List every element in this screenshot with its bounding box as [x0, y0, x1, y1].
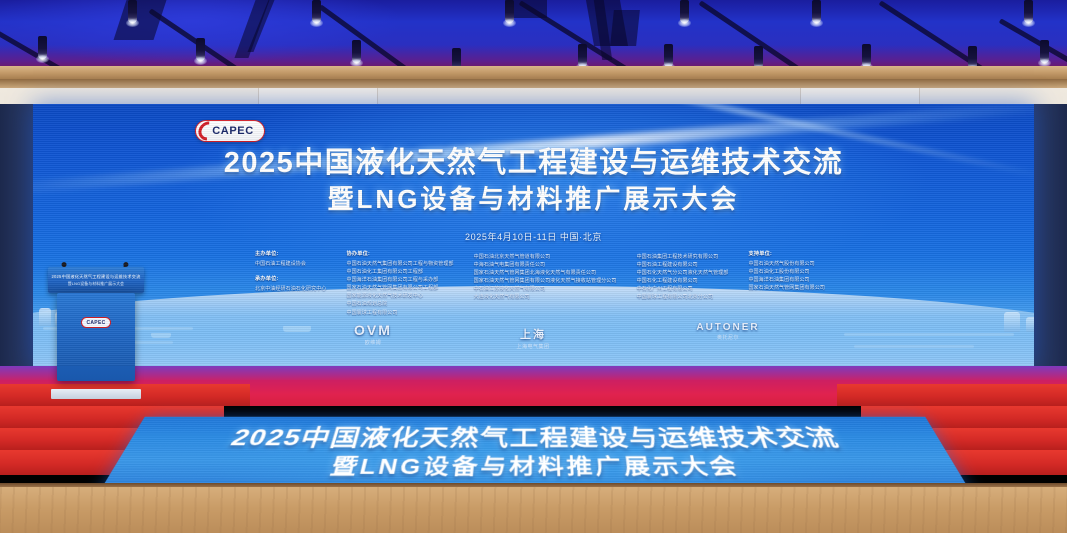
podium-capec-logo: CAPEC — [81, 317, 111, 328]
ceiling-spotlight — [505, 0, 514, 23]
ceiling-spotlight — [312, 0, 321, 23]
ceiling-beam-shadow — [0, 79, 1067, 88]
sponsor-heading: 支持单位: — [748, 250, 825, 257]
sponsor-item: 中国石油规划总院 — [346, 300, 453, 308]
shanghai-logo-text: 上海 — [473, 326, 593, 342]
ceiling — [0, 0, 1067, 72]
sponsor-item: 中国寰球工程有限公司 — [346, 309, 453, 317]
podium-banner-line-2: 暨LNG设备与材料推广展示大会 — [68, 282, 124, 287]
sponsor-item: 中国石油北京天然气管道有限公司 — [474, 253, 617, 261]
sponsor-item: 中国石油化工集团有限公司工程部 — [346, 268, 453, 276]
ceiling-spotlight — [578, 44, 587, 67]
sponsor-item: 中国海洋石油集团有限公司工程与采办部 — [346, 276, 453, 284]
sponsor-item: 中国石化工程建设有限公司 — [637, 277, 729, 285]
ceiling-spotlight — [128, 0, 137, 23]
sponsor-item: 中国寰球工程有限公司北京分公司 — [637, 293, 729, 301]
autoner-logo-sub: 奥托尼尔 — [673, 334, 783, 341]
sponsor-item: 中国石油化工股份有限公司 — [748, 268, 825, 276]
autoner-logo-text: AUTONER — [673, 322, 783, 333]
sponsor-item: 北京中油经研石油石化研究中心 — [255, 285, 326, 293]
sponsor-item: 大连液化天然气有限公司 — [474, 293, 617, 301]
ovm-logo-text: OVM — [333, 322, 413, 338]
sponsor-column: 支持单位: 中国石油天然气股份有限公司 中国石油化工股份有限公司 中国海洋石油集… — [748, 250, 825, 317]
main-led-screen: CAPEC 2025中国液化天然气工程建设与运维技术交流 暨LNG设备与材料推广… — [33, 104, 1034, 366]
sponsor-item: 中国石油天然气股份有限公司 — [748, 260, 825, 268]
sponsor-column: 中国石油集团工程技术研究有限公司 中国石油工程建设有限公司 中国石化天然气分公司… — [637, 250, 729, 317]
sponsor-column: 中国石油北京天然气管道有限公司 中海石油气电集团有限责任公司 国家石油天然气管网… — [474, 250, 617, 317]
floor-banner-title: 2025中国液化天然气工程建设与运维技术交流 暨LNG设备与材料推广展示大会 — [107, 426, 963, 479]
ceiling-spotlight — [352, 40, 361, 63]
screen-side-right — [1034, 104, 1067, 366]
floor-title-line-2: 暨LNG设备与材料推广展示大会 — [107, 454, 963, 480]
podium-body: CAPEC — [57, 293, 135, 381]
sponsor-item: 中石油江苏液化天然气有限公司 — [474, 285, 617, 293]
capec-arc-icon — [195, 118, 222, 145]
sponsor-item: 中国石油工程建设协会 — [255, 260, 326, 268]
shanghai-logo: 上海 上海电气集团 — [473, 326, 593, 350]
floor-title-line-1: 2025中国液化天然气工程建设与运维技术交流 — [125, 426, 946, 450]
ceiling-spotlight — [664, 44, 673, 67]
shanghai-logo-sub: 上海电气集团 — [473, 343, 593, 350]
ceiling-spotlight — [38, 36, 47, 59]
sponsor-item: 中国石油天然气集团有限公司工程与物资管理部 — [346, 260, 453, 268]
conference-title: 2025中国液化天然气工程建设与运维技术交流 暨LNG设备与材料推广展示大会 — [33, 148, 1034, 216]
sponsor-item: 国家石油天然气管网集团有限公司工程部 — [346, 284, 453, 292]
speaker-podium: 2025中国液化天然气工程建设与运维技术交流 暨LNG设备与材料推广展示大会 C… — [48, 257, 144, 391]
ceiling-beam — [0, 66, 1067, 79]
title-line-2: 暨LNG设备与材料推广展示大会 — [33, 183, 1034, 216]
sponsor-column: 协办单位: 中国石油天然气集团有限公司工程与物资管理部 中国石油化工集团有限公司… — [346, 250, 453, 317]
sponsor-item: 中国石油工程建设有限公司 — [637, 261, 729, 269]
podium-banner-line-1: 2025中国液化天然气工程建设与运维技术交流 — [51, 274, 140, 280]
stage-step — [837, 384, 1067, 406]
title-line-1: 2025中国液化天然气工程建设与运维技术交流 — [33, 148, 1034, 179]
ceiling-spotlight — [1040, 40, 1049, 63]
sponsor-item: 国家石油天然气管网集团北海液化天然气有限责任公司 — [474, 269, 617, 277]
sponsor-item: 中国石化天然气分公司液化天然气管理部 — [637, 269, 729, 277]
sponsor-column: 主办单位: 中国石油工程建设协会 承办单位: 北京中油经研石油石化研究中心 — [255, 250, 326, 317]
sponsor-item: 国家石油天然气管网集团有限公司液化天然气接收站管理分公司 — [474, 277, 617, 285]
wood-floor — [0, 487, 1067, 533]
ovm-logo-sub: 欧维姆 — [333, 339, 413, 346]
sponsor-item: 中海石油气电集团有限责任公司 — [474, 261, 617, 269]
ceiling-spotlight — [1024, 0, 1033, 23]
sponsor-item: 国家石油天然气管网集团有限公司 — [748, 284, 825, 292]
ceiling-spotlight — [862, 44, 871, 67]
screen-side-left — [0, 104, 33, 366]
podium-base — [51, 389, 141, 399]
ceiling-spotlight — [812, 0, 821, 23]
sponsor-heading: 主办单位: — [255, 250, 326, 257]
ceiling-spotlight — [196, 38, 205, 61]
ovm-logo: OVM 欧维姆 — [333, 322, 413, 346]
ceiling-spotlight — [680, 0, 689, 23]
sponsor-item: 国家能源液化天然气技术研发中心 — [346, 292, 453, 300]
conference-hall-photo: CAPEC 2025中国液化天然气工程建设与运维技术交流 暨LNG设备与材料推广… — [0, 0, 1067, 533]
autoner-logo: AUTONER 奥托尼尔 — [673, 322, 783, 341]
podium-banner: 2025中国液化天然气工程建设与运维技术交流 暨LNG设备与材料推广展示大会 — [48, 267, 144, 293]
sponsor-heading: 承办单位: — [255, 275, 326, 282]
stage-glow — [0, 366, 1067, 380]
sponsor-columns: 主办单位: 中国石油工程建设协会 承办单位: 北京中油经研石油石化研究中心 协办… — [255, 250, 825, 317]
sponsor-item: 中石化广州工程有限公司 — [637, 285, 729, 293]
capec-logo: CAPEC — [195, 120, 265, 142]
sponsor-item: 中国海洋石油集团有限公司 — [748, 276, 825, 284]
date-location-text: 2025年4月10日-11日 中国·北京 — [33, 230, 1034, 243]
sponsor-heading: 协办单位: — [346, 250, 453, 257]
sponsor-item: 中国石油集团工程技术研究有限公司 — [637, 253, 729, 261]
